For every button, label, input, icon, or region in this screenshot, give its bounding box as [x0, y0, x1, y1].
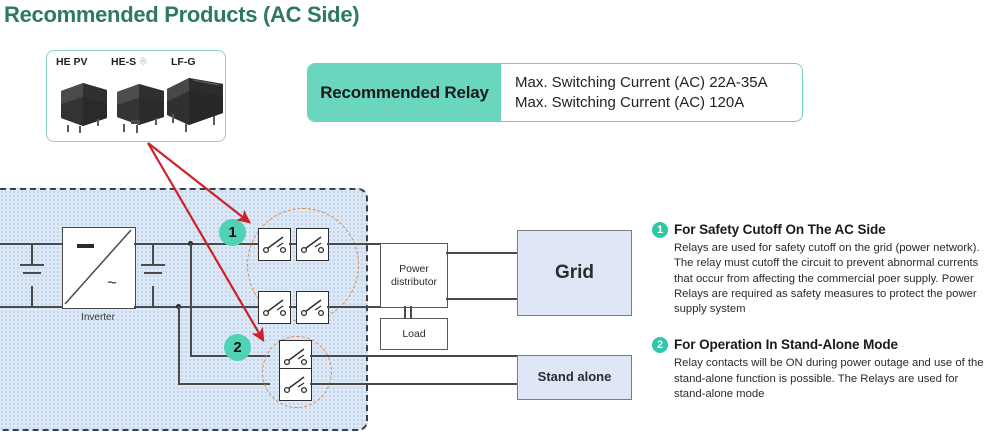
note-1-body: Relays are used for safety cutoff on the…: [674, 241, 988, 317]
wire-pd-grid-bottom: [446, 298, 518, 300]
notes-column: 1 For Safety Cutoff On The AC Side Relay…: [652, 222, 988, 414]
note-1-badge: 1: [652, 222, 668, 238]
grid-block: Grid: [517, 230, 632, 316]
wire-pd-grid-top: [446, 252, 518, 254]
note-1: 1 For Safety Cutoff On The AC Side Relay…: [652, 222, 988, 317]
note-1-head: 1 For Safety Cutoff On The AC Side: [652, 222, 988, 238]
power-distributor-label-line1: Power: [399, 263, 429, 275]
note-2-title: For Operation In Stand-Alone Mode: [674, 337, 898, 352]
stand-alone-block: Stand alone: [517, 355, 632, 400]
note-2-badge: 2: [652, 337, 668, 353]
stand-alone-label: Stand alone: [538, 370, 612, 385]
power-distributor-label-line2: distributor: [391, 276, 437, 288]
grid-label: Grid: [555, 262, 594, 284]
wire-pd-load-1: [404, 306, 406, 318]
wire-pd-load-2: [410, 306, 412, 318]
note-2-body: Relay contacts will be ON during power o…: [674, 356, 988, 402]
load-block: Load: [380, 318, 448, 350]
power-distributor-block: Power distributor: [380, 243, 448, 308]
note-2-head: 2 For Operation In Stand-Alone Mode: [652, 337, 988, 353]
note-1-title: For Safety Cutoff On The AC Side: [674, 222, 886, 237]
note-2: 2 For Operation In Stand-Alone Mode Rela…: [652, 337, 988, 402]
load-label: Load: [402, 328, 425, 340]
